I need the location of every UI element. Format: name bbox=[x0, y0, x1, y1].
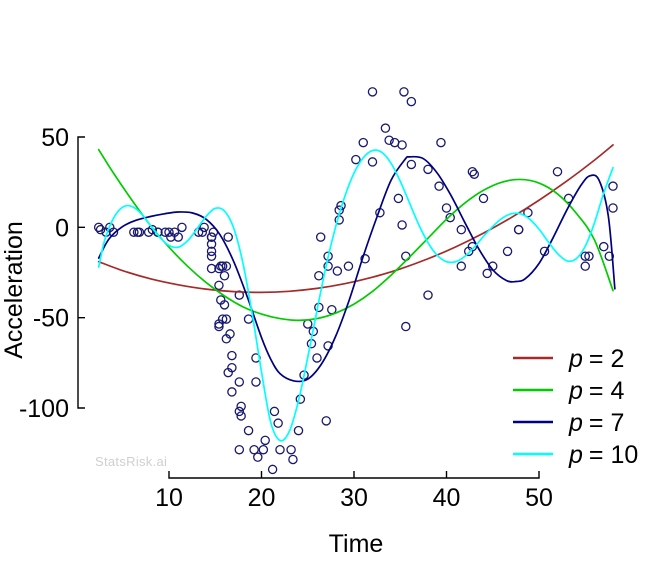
y-tick-label: -100 bbox=[19, 395, 69, 423]
x-tick-label: 50 bbox=[525, 484, 553, 512]
legend-variable: p bbox=[568, 409, 583, 437]
legend-variable: p bbox=[568, 441, 583, 469]
y-axis-title: Acceleration bbox=[0, 221, 28, 359]
legend-variable: p bbox=[568, 377, 583, 405]
x-tick-label: 10 bbox=[155, 484, 183, 512]
x-axis-title: Time bbox=[329, 530, 384, 558]
legend-label: p= 7 bbox=[568, 409, 624, 437]
legend-label: p= 10 bbox=[568, 441, 638, 469]
legend-value: = 10 bbox=[589, 441, 638, 469]
legend-value: = 2 bbox=[589, 345, 624, 373]
legend-variable: p bbox=[568, 345, 583, 373]
legend-value: = 4 bbox=[589, 377, 625, 405]
y-tick-label: -50 bbox=[33, 305, 69, 333]
legend-label: p= 2 bbox=[568, 345, 624, 373]
legend-value: = 7 bbox=[589, 409, 624, 437]
x-tick-label: 30 bbox=[340, 484, 368, 512]
y-tick-label: 50 bbox=[41, 124, 69, 152]
watermark-label: StatsRisk.ai bbox=[95, 454, 167, 469]
x-tick-label: 20 bbox=[248, 484, 276, 512]
chart-canvas: 500-50-100 1020304050 Time Acceleration … bbox=[0, 0, 672, 576]
polynomial-regression-chart: 500-50-100 1020304050 Time Acceleration … bbox=[0, 0, 672, 576]
chart-background bbox=[0, 0, 672, 576]
legend-label: p= 4 bbox=[568, 377, 624, 405]
y-tick-label: 0 bbox=[55, 214, 69, 242]
x-tick-label: 40 bbox=[433, 484, 461, 512]
